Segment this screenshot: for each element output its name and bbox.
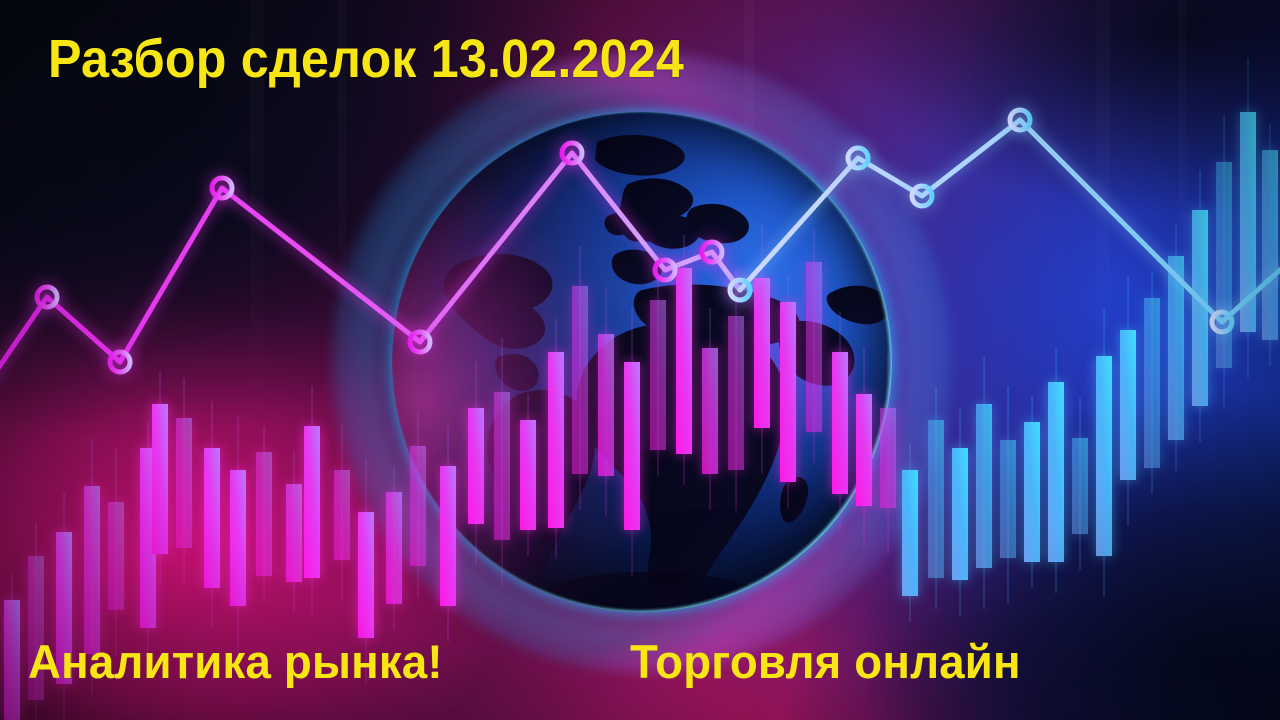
thumbnail-canvas: Разбор сделок 13.02.2024 Аналитика рынка…: [0, 0, 1280, 720]
vignette-overlay: [0, 0, 1280, 720]
caption-online-trading: Торговля онлайн: [630, 634, 1021, 689]
page-title: Разбор сделок 13.02.2024: [48, 28, 684, 90]
caption-market-analytics: Аналитика рынка!: [28, 634, 443, 689]
